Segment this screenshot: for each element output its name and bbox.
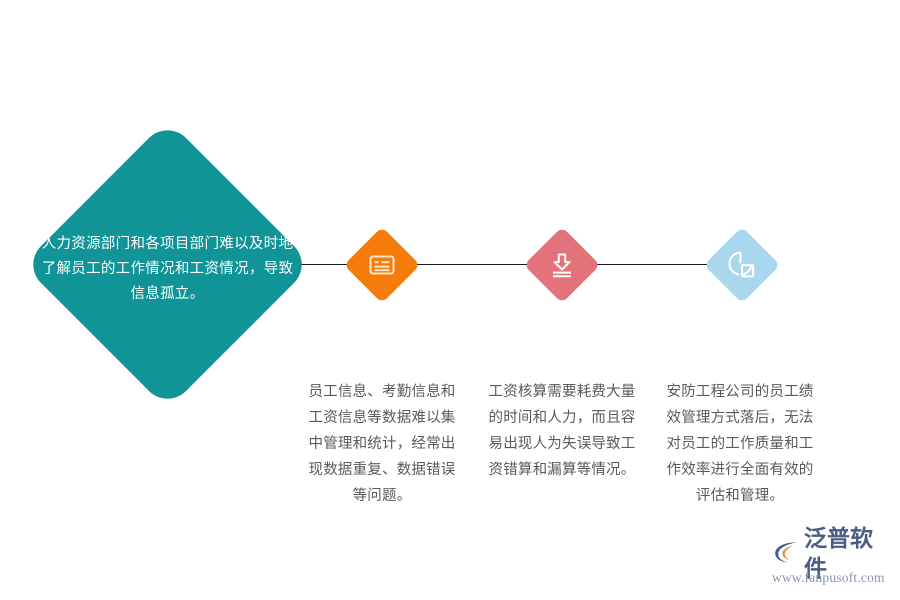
pie-chart-icon	[725, 248, 759, 282]
node-diamond-2[interactable]	[524, 227, 600, 303]
node-caption-2: 工资核算需要耗费大量的时间和人力，而且容易出现人为失误导致工资错算和漏算等情况。	[482, 379, 642, 483]
node-1-shape	[344, 227, 420, 303]
logo-row: 泛普软件	[772, 539, 894, 569]
infographic-canvas: 人力资源部门和各项目部门难以及时地了解员工的工作情况和工资情况，导致信息孤立。	[0, 0, 900, 600]
download-arrow-icon	[545, 248, 579, 282]
main-problem-text: 人力资源部门和各项目部门难以及时地了解员工的工作情况和工资情况，导致信息孤立。	[40, 232, 295, 307]
id-card-icon	[365, 248, 399, 282]
logo-mark-icon	[772, 538, 800, 570]
node-caption-1: 员工信息、考勤信息和工资信息等数据难以集中管理和统计，经常出现数据重复、数据错误…	[302, 379, 462, 509]
node-diamond-1[interactable]	[344, 227, 420, 303]
node-3-shape	[704, 227, 780, 303]
node-2-shape	[524, 227, 600, 303]
logo-url: www.fanpusoft.com	[772, 570, 894, 586]
brand-logo[interactable]: 泛普软件 www.fanpusoft.com	[772, 539, 894, 591]
node-diamond-3[interactable]	[704, 227, 780, 303]
node-caption-3: 安防工程公司的员工绩效管理方式落后，无法对员工的工作质量和工作效率进行全面有效的…	[660, 379, 820, 509]
connector-line-segment-3	[584, 264, 714, 265]
